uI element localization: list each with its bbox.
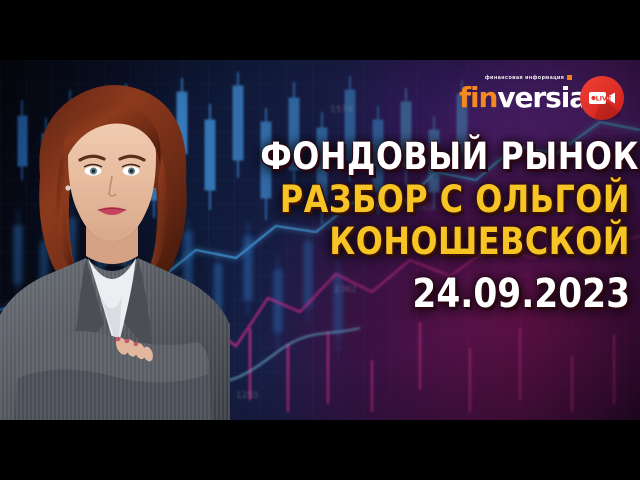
logo-tagline-square [567, 75, 572, 80]
logo-wordmark: финансовая информация fin versia [459, 84, 587, 112]
headline-date: 24.09.2023 [260, 274, 630, 314]
video-frame: 1574 2376 2382 2362 1310 1255 2362 [0, 60, 640, 420]
finversia-logo[interactable]: финансовая информация fin versia [459, 74, 626, 122]
letterbox-bar-bottom [0, 420, 640, 480]
headline-line-1: ФОНДОВЫЙ РЫНОК: [260, 138, 630, 175]
headline-line-3: КОНОШЕВСКОЙ [260, 223, 630, 260]
video-thumbnail: 1574 2376 2382 2362 1310 1255 2362 [0, 0, 640, 480]
headline-block: ФОНДОВЫЙ РЫНОК: РАЗБОР С ОЛЬГОЙ КОНОШЕВС… [200, 138, 630, 314]
letterbox-bar-top [0, 0, 640, 60]
live-badge[interactable]: LIVE [578, 74, 626, 122]
live-badge-label: LIVE [596, 95, 612, 103]
logo-fin-text: fin [459, 84, 497, 112]
presenter-portrait [0, 60, 230, 420]
logo-tagline: финансовая информация [485, 75, 572, 81]
headline-line-2: РАЗБОР С ОЛЬГОЙ [260, 181, 630, 218]
logo-versia-text: versia [497, 84, 587, 112]
